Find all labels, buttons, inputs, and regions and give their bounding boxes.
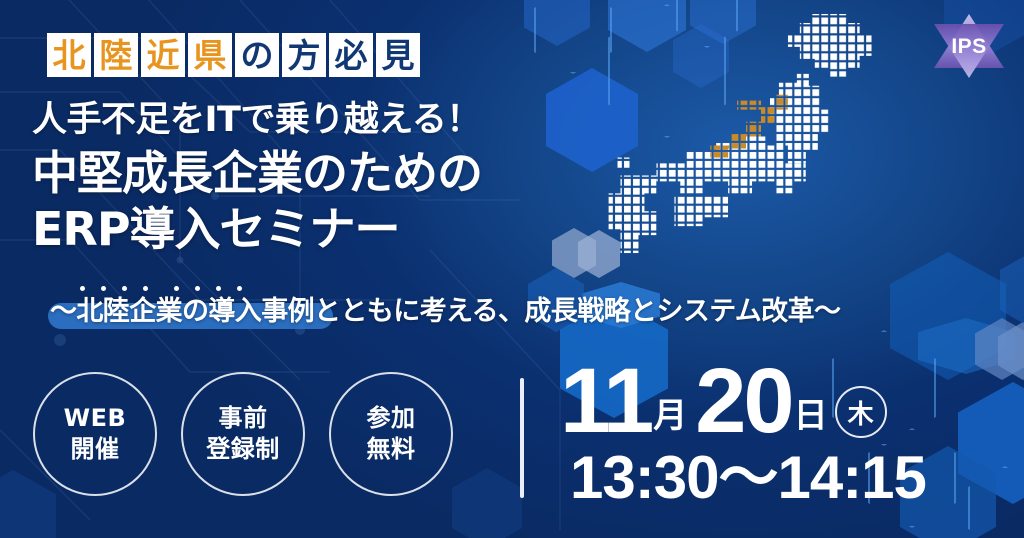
badge-char: 見 xyxy=(376,33,420,77)
feature-badges: WEB 開催 事前 登録制 参加 無料 xyxy=(33,372,453,496)
badge-char: 近 xyxy=(141,33,185,77)
emphasis-dot-group xyxy=(174,286,242,291)
date-day-unit: 日 xyxy=(794,399,828,444)
badge-jizen-torokusei: 事前 登録制 xyxy=(181,372,305,496)
badge-char: 方 xyxy=(282,33,326,77)
badge-char: 陸 xyxy=(94,33,138,77)
ips-logo-text: IPS xyxy=(951,35,986,58)
seminar-banner: IPS xyxy=(0,0,1024,538)
top-badge: 北 陸 近 県 の 方 必 見 xyxy=(47,33,420,77)
badge-line-top: 参加 xyxy=(367,403,416,434)
badge-char: の xyxy=(235,33,279,77)
badge-line-bottom: 無料 xyxy=(367,434,416,465)
date-time-range: 13:30〜14:15 xyxy=(560,446,980,509)
ips-logo: IPS xyxy=(926,8,1012,84)
hexagon-decoration xyxy=(975,318,1024,380)
headline-block: 人手不足をITで乗り越える！ 中堅成長企業のための ERP導入セミナー xyxy=(32,100,572,258)
badge-char: 必 xyxy=(329,33,373,77)
hexagon-decoration xyxy=(452,468,522,538)
date-month-number: 11 xyxy=(560,358,651,444)
subtitle-text: 〜北陸企業の導入事例とともに考える、成長戦略とシステム改革〜 xyxy=(50,296,840,328)
badge-line-bottom: 開催 xyxy=(71,434,120,465)
subtitle-block: 〜北陸企業の導入事例とともに考える、成長戦略とシステム改革〜 xyxy=(28,286,858,334)
hexagon-decoration xyxy=(524,0,590,46)
emphasis-dot-group xyxy=(80,286,148,291)
badge-sanka-muryo: 参加 無料 xyxy=(329,372,453,496)
emphasis-dot xyxy=(195,286,200,291)
date-month-unit: 月 xyxy=(653,399,687,444)
headline-line-2: 中堅成長企業のための xyxy=(32,145,572,201)
badge-char: 県 xyxy=(188,33,232,77)
emphasis-dot xyxy=(174,286,179,291)
badge-char: 北 xyxy=(47,33,91,77)
emphasis-dot xyxy=(122,286,127,291)
emphasis-dot xyxy=(101,286,106,291)
date-block: 11 月 20 日 木 13:30〜14:15 xyxy=(560,358,980,509)
badge-line-top: 事前 xyxy=(219,403,268,434)
emphasis-dot xyxy=(237,286,242,291)
date-row: 11 月 20 日 木 xyxy=(560,358,980,444)
emphasis-dot xyxy=(216,286,221,291)
badge-line-top: WEB xyxy=(64,403,127,434)
headline-line-1: 人手不足をITで乗り越える！ xyxy=(32,100,572,141)
hexagon-decoration xyxy=(998,322,1024,380)
headline-line-3: ERP導入セミナー xyxy=(32,201,572,257)
badge-line-bottom: 登録制 xyxy=(206,434,280,465)
badge-web-kaisai: WEB 開催 xyxy=(33,372,157,496)
subtitle-emphasis-dots xyxy=(80,286,242,291)
hexagon-decoration xyxy=(1000,250,1024,330)
japan-dot-map xyxy=(596,8,926,283)
map-region-honshu xyxy=(597,8,926,283)
emphasis-dot xyxy=(80,286,85,291)
date-day-number: 20 xyxy=(695,358,791,444)
vertical-divider xyxy=(520,378,524,498)
date-weekday-circle: 木 xyxy=(835,386,887,438)
